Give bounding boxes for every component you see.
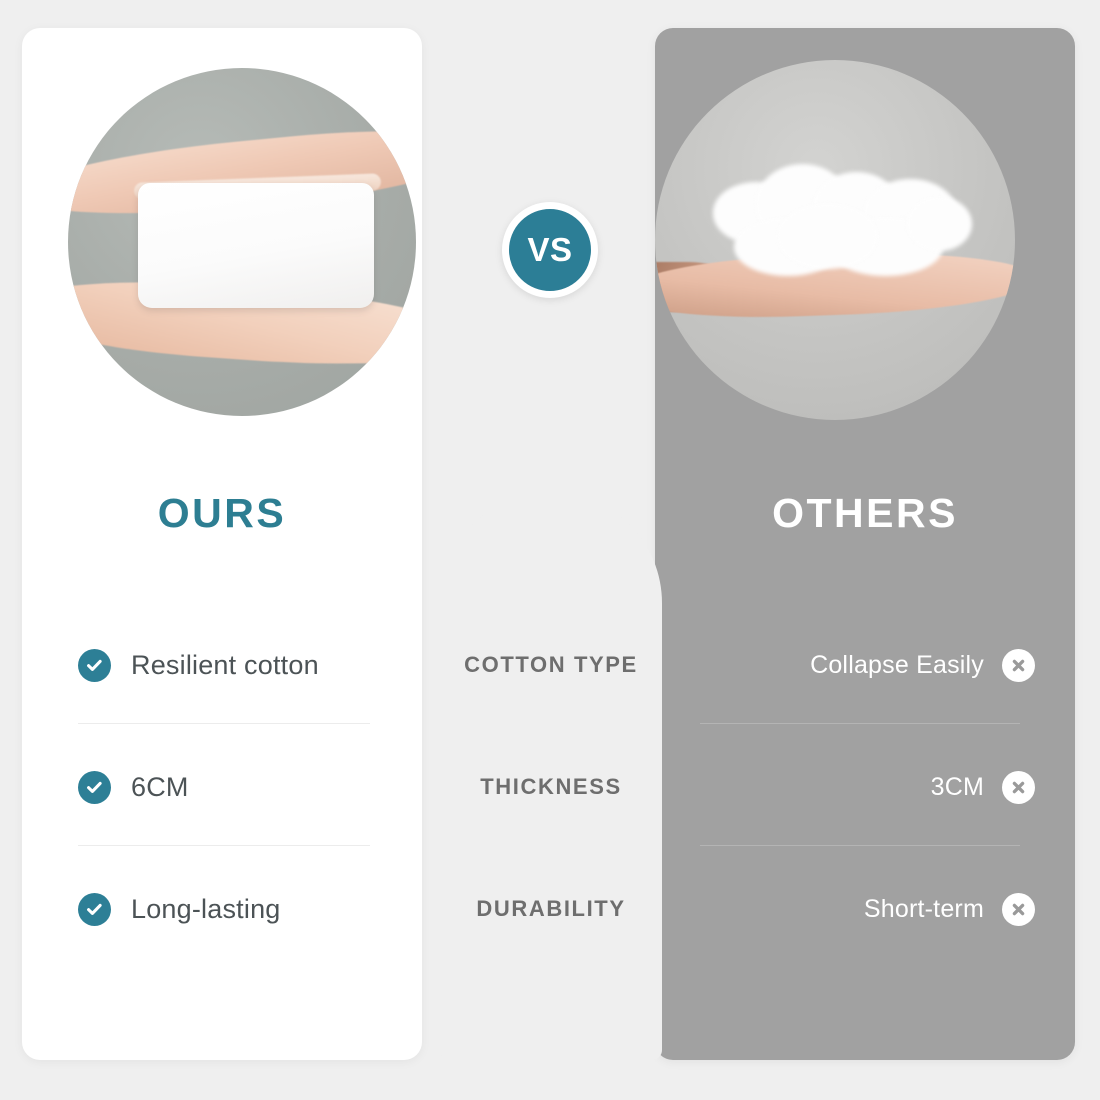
others-feature-text: Short-term <box>864 895 984 924</box>
comparison-infographic: VS OURS OTHERS Resilient cotton COTTON T… <box>0 0 1100 1100</box>
check-circle-icon <box>78 649 111 682</box>
others-feature-cell: Collapse Easily <box>700 622 1035 708</box>
comparison-row: Resilient cotton COTTON TYPE Collapse Ea… <box>0 622 1100 708</box>
ours-feature-text: Resilient cotton <box>131 650 319 681</box>
vs-badge: VS <box>502 202 598 298</box>
ours-feature-text: Long-lasting <box>131 894 281 925</box>
comparison-row: 6CM THICKNESS 3CM <box>0 744 1100 830</box>
others-feature-text: Collapse Easily <box>810 651 984 680</box>
feature-label: THICKNESS <box>440 744 662 830</box>
others-feature-text: 3CM <box>931 773 984 802</box>
x-circle-icon <box>1002 771 1035 804</box>
feature-label: COTTON TYPE <box>440 622 662 708</box>
ours-feature-cell: Long-lasting <box>78 866 398 952</box>
vs-label: VS <box>527 231 572 269</box>
others-feature-cell: 3CM <box>700 744 1035 830</box>
comparison-row: Long-lasting DURABILITY Short-term <box>0 866 1100 952</box>
check-circle-icon <box>78 893 111 926</box>
others-feature-cell: Short-term <box>700 866 1035 952</box>
ours-feature-cell: Resilient cotton <box>78 622 398 708</box>
ours-feature-text: 6CM <box>131 772 189 803</box>
feature-label: DURABILITY <box>440 866 662 952</box>
x-circle-icon <box>1002 893 1035 926</box>
x-circle-icon <box>1002 649 1035 682</box>
check-circle-icon <box>78 771 111 804</box>
ours-feature-cell: 6CM <box>78 744 398 830</box>
